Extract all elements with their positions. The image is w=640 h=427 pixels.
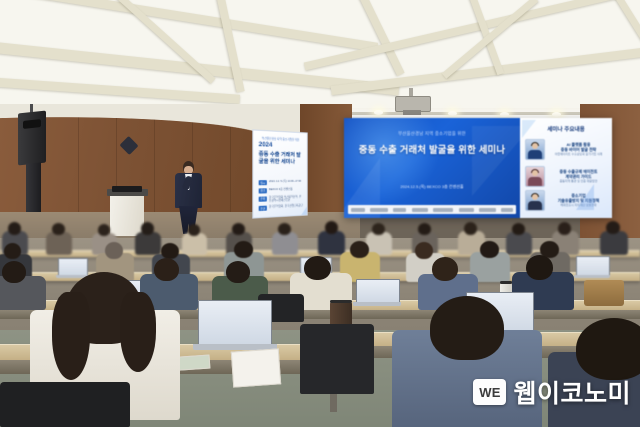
seminar-hall-photo: 부산울산경남 지역 중소기업을 위한 2024 중동 수출 거래처 발굴을 위한…: [0, 0, 640, 427]
attendee-head: [4, 243, 21, 259]
slide-main: 부산울산경남 지역 중소기업을 위한 중동 수출 거래처 발굴을 위한 세미나 …: [344, 118, 520, 218]
sponsor-logo-icon: [501, 208, 513, 212]
attendee-torso: [135, 232, 161, 255]
seminar-content-item: 중동 수출규제 에이전트 계약관리 가이드 중동지역 통관 및 인증 대응방안: [525, 165, 609, 187]
seminar-content-item: 중소기업 기술유출방지 및 지원정책 해외진출시 지식재산 보호전략: [525, 189, 609, 211]
banner-info-rows: 일시 2024. 12. 5.(목) 14:00~17:00 장소 BEXCO …: [259, 180, 303, 214]
banner-row-value: 2024. 12. 5.(목) 14:00~17:00: [269, 180, 301, 184]
banner-row: 장소 BEXCO 3층 컨벤션홀: [259, 187, 303, 193]
banner-row: 주관 한국무역협회, 한국산업단지공단: [259, 204, 303, 211]
attendee-head: [98, 224, 110, 236]
attendee-hair: [52, 292, 90, 380]
handout-paper: [231, 348, 281, 387]
ceiling-projector-icon: [395, 96, 431, 112]
wall-speaker-icon: [18, 111, 46, 166]
attendee-head: [2, 261, 26, 283]
attendee-head: [558, 222, 571, 235]
watermark: WE 웹이코노미: [473, 374, 631, 410]
banner-row: 일시 2024. 12. 5.(목) 14:00~17:00: [259, 180, 303, 186]
sponsor-logo-icon: [412, 208, 428, 212]
banner-row-tag: 일시: [259, 180, 267, 185]
slide-date-venue: 2024.12.5.(목) BEXCO 3층 컨벤션홀: [344, 184, 520, 190]
slide-subtitle: 부산울산경남 지역 중소기업을 위한: [344, 131, 520, 137]
attendee-head: [278, 223, 291, 235]
attendee-head: [8, 222, 21, 235]
seminar-content-item: AI 플랫폼 활용 중동 바이어 발굴 전략 아랍에미리트 수출상담회 참가기업…: [525, 138, 609, 160]
attendee-head: [432, 257, 458, 281]
attendee-head: [154, 258, 179, 281]
banner-top-line: 부산울산경남 지역 중소기업을 위한: [253, 136, 306, 142]
sponsor-logo-icon: [479, 208, 496, 212]
banner-row-tag: 장소: [259, 188, 267, 193]
projection-screen: 부산울산경남 지역 중소기업을 위한 중동 수출 거래처 발굴을 위한 세미나 …: [344, 118, 612, 218]
slide-side-contents: 세미나 주요내용 AI 플랫폼 활용 중동 바이어 발굴 전략 아랍에미리트 수…: [520, 118, 612, 218]
attendee-head: [304, 256, 331, 280]
sponsor-logo-icon: [393, 208, 406, 212]
banner-row-tag: 주관: [259, 206, 267, 212]
attendee-head: [226, 261, 250, 283]
attendee-torso: [182, 233, 207, 255]
sponsor-logo-icon: [370, 208, 388, 212]
watermark-badge: WE: [473, 379, 506, 405]
banner-row-value: BEXCO 3층 컨벤션홀: [269, 188, 293, 192]
attendee-head: [350, 241, 369, 258]
banner-row: 주최 한국무역협회 부산지역본부, 부산광역시경제진흥원: [259, 195, 303, 203]
downlight: [374, 110, 383, 115]
attendee-head: [606, 221, 620, 234]
attendee-head: [418, 223, 431, 235]
side-slide-title: 세미나 주요내용: [520, 125, 612, 133]
attendee-head: [325, 221, 338, 234]
attendee-torso: [318, 231, 345, 255]
attendee-head: [188, 224, 200, 236]
attendee-torso: [506, 232, 532, 255]
sponsor-logo-icon: [351, 208, 365, 212]
attendee-torso: [600, 231, 628, 255]
chair-back: [0, 382, 130, 427]
content-detail: 아랍에미리트 수출상담회 참가기업 사례: [548, 153, 609, 157]
downlight: [448, 111, 457, 116]
attendee-head: [105, 242, 123, 259]
attendee-hair: [120, 292, 156, 372]
slide-sponsor-logo-row: [348, 205, 516, 214]
banner-row-tag: 주최: [259, 196, 267, 202]
sponsor-logo-icon: [433, 208, 453, 212]
attendee-torso: [46, 232, 72, 255]
attendee-head: [234, 241, 253, 258]
attendee-head: [161, 243, 179, 259]
attendee-head: [372, 223, 385, 235]
banner-year: 2024: [259, 142, 273, 149]
lectern: [110, 194, 144, 236]
attendee-head: [526, 255, 553, 280]
attendee-torso: [272, 232, 298, 255]
banner-title: 중동 수출 거래처 발굴을 위한 세미나: [259, 151, 303, 165]
content-detail: 중동지역 통관 및 인증 대응방안: [548, 180, 609, 184]
sponsor-logo-icon: [459, 208, 474, 212]
attendee-head: [576, 318, 640, 380]
lectern-monitor: [112, 186, 142, 192]
attendee-head: [232, 223, 245, 235]
attendee-head: [430, 296, 504, 360]
speaker-portrait: [525, 139, 545, 160]
attendee-head: [52, 223, 65, 235]
attendee-head: [415, 242, 433, 259]
attendee-head: [512, 223, 525, 235]
downlight: [552, 112, 561, 117]
chair-back: [300, 324, 374, 394]
watermark-text: 웹이코노미: [513, 374, 631, 410]
speaker-portrait: [525, 190, 545, 211]
slide-decor-triangle: [576, 184, 594, 210]
handbag: [584, 280, 624, 306]
attendee-head: [464, 222, 477, 235]
downlight: [500, 112, 509, 117]
attendee-head: [480, 241, 499, 258]
standing-banner: 부산울산경남 지역 중소기업을 위한 2024 중동 수출 거래처 발굴을 위한…: [252, 129, 307, 218]
attendee-head: [141, 222, 154, 235]
speaker-portrait: [525, 166, 545, 187]
slide-title: 중동 수출 거래처 발굴을 위한 세미나: [344, 142, 520, 156]
